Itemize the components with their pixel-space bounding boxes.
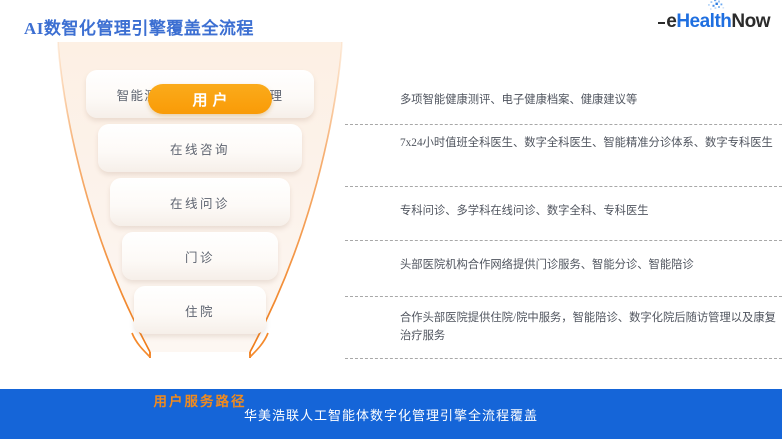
funnel-stage-4[interactable]: 门诊 xyxy=(122,232,278,280)
funnel-stage-5[interactable]: 住院 xyxy=(134,286,266,334)
path-label: 用户服务路径 xyxy=(0,390,400,410)
funnel-stage-label: 在线问诊 xyxy=(170,193,230,212)
detail-list: 多项智能健康测评、电子健康档案、健康建议等 7x24小时值班全科医生、数字全科医… xyxy=(345,36,782,386)
detail-text: 头部医院机构合作网络提供门诊服务、智能分诊、智能陪诊 xyxy=(345,241,782,274)
logo-text-e: e xyxy=(666,11,676,33)
slide-canvas: AI数智化管理引擎覆盖全流程 eHealthNow xyxy=(0,0,782,439)
user-pill-button[interactable]: 用户 xyxy=(148,84,272,114)
funnel-stage-card: 住院 xyxy=(134,286,266,334)
funnel-stage-label: 在线咨询 xyxy=(170,139,230,158)
detail-row: 专科问诊、多学科在线问诊、数字全科、专科医生 xyxy=(345,186,782,240)
user-pill-label: 用户 xyxy=(187,89,232,110)
funnel-stage-label: 门诊 xyxy=(185,247,215,266)
logo-text-now: Now xyxy=(731,11,770,33)
brand-logo: eHealthNow xyxy=(658,8,770,36)
logo-text-health: Health xyxy=(676,11,731,33)
funnel-diagram: 用户 智能测评及数字化健康管理 在线咨询 在线问诊 门诊 住院 xyxy=(0,36,400,386)
detail-text: 7x24小时值班全科医生、数字全科医生、智能精准分诊体系、数字专科医生 xyxy=(345,125,782,152)
detail-row-divider xyxy=(345,358,782,359)
funnel-stage-label: 住院 xyxy=(185,301,215,320)
funnel-stage-3[interactable]: 在线问诊 xyxy=(110,178,290,226)
logo-dash-icon xyxy=(658,22,665,25)
detail-row: 多项智能健康测评、电子健康档案、健康建议等 xyxy=(345,82,782,124)
funnel-stage-card: 在线咨询 xyxy=(98,124,302,172)
detail-row: 合作头部医院提供住院/院中服务，智能陪诊、数字化院后随访管理以及康复治疗服务 xyxy=(345,296,782,358)
detail-row: 7x24小时值班全科医生、数字全科医生、智能精准分诊体系、数字专科医生 xyxy=(345,124,782,186)
detail-row: 头部医院机构合作网络提供门诊服务、智能分诊、智能陪诊 xyxy=(345,240,782,296)
funnel-stage-card: 门诊 xyxy=(122,232,278,280)
detail-text: 多项智能健康测评、电子健康档案、健康建议等 xyxy=(345,82,782,109)
funnel-stage-2[interactable]: 在线咨询 xyxy=(98,124,302,172)
funnel-stage-card: 在线问诊 xyxy=(110,178,290,226)
detail-text: 专科问诊、多学科在线问诊、数字全科、专科医生 xyxy=(345,187,782,220)
detail-text: 合作头部医院提供住院/院中服务，智能陪诊、数字化院后随访管理以及康复治疗服务 xyxy=(345,297,782,345)
